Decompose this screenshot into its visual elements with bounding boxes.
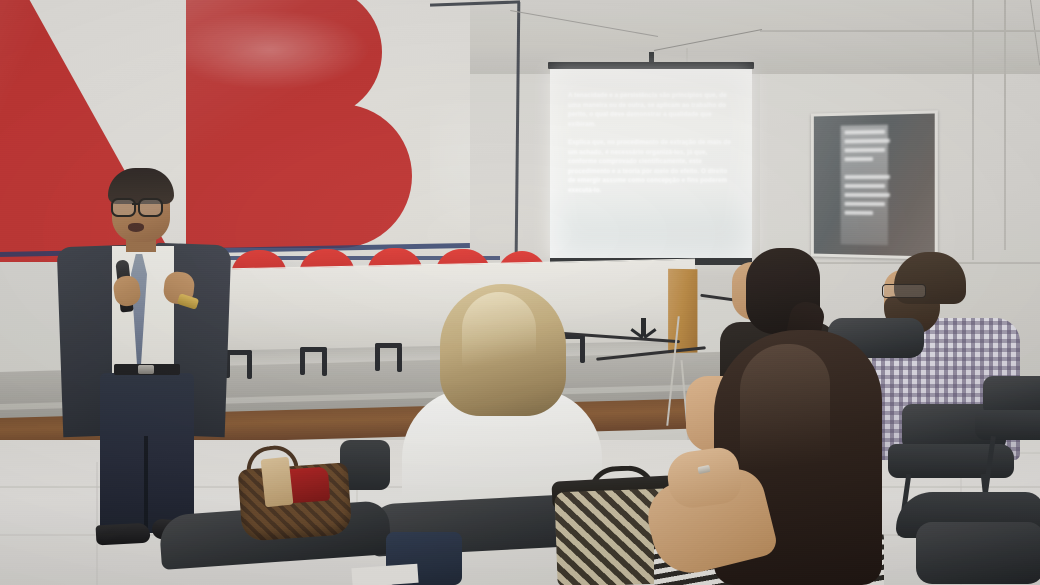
eyeglasses-bridge [132,203,140,205]
chair-leg [322,350,327,376]
presenter-trouser-seam [144,436,148,534]
chair-leg-bar [300,347,327,352]
wall-glass-panel [811,110,938,259]
screen-surface: A tenacidade e a persistência são princí… [550,69,752,259]
wall-light-reflection [430,100,470,240]
wall-seam [972,0,974,260]
logo-b-bowl-bottom [226,104,412,248]
eyeglasses-icon [111,198,136,217]
black-chair [975,376,1040,506]
wallet [261,457,294,508]
chair-leg [375,345,380,371]
hair-highlight [462,292,536,388]
wall-light-reflection [170,10,370,90]
paper-sheet [351,564,418,585]
slide-paragraph-1: A tenacidade e a persistência são princí… [568,91,734,129]
eyeglasses-icon [882,284,926,298]
black-chair [340,440,410,510]
wall-seam [1004,0,1006,250]
ceiling-seam [1030,0,1040,65]
projection-screen: A tenacidade e a persistência são princí… [548,62,754,274]
chair-back [916,522,1040,584]
chair-leg [300,349,305,375]
belt-buckle [138,365,154,374]
chair-seat [975,410,1040,440]
lecture-room-photo: A tenacidade e a persistência são princí… [0,0,1040,585]
glass-slide-reflection [841,125,888,246]
wall-seam [760,30,1040,32]
slide-paragraph-2: Explica que, no procedimento de extração… [568,138,734,195]
presenter-mouth [128,223,144,232]
screen-top-bar [548,62,754,69]
slide-text-block: A tenacidade e a persistência são princí… [568,91,734,204]
attendee-striped-top-woman [640,330,930,585]
eyeglasses-icon [138,198,163,217]
chair-leg [247,353,252,379]
chair-legs [983,436,996,492]
presenter-shoe-left [96,523,151,546]
